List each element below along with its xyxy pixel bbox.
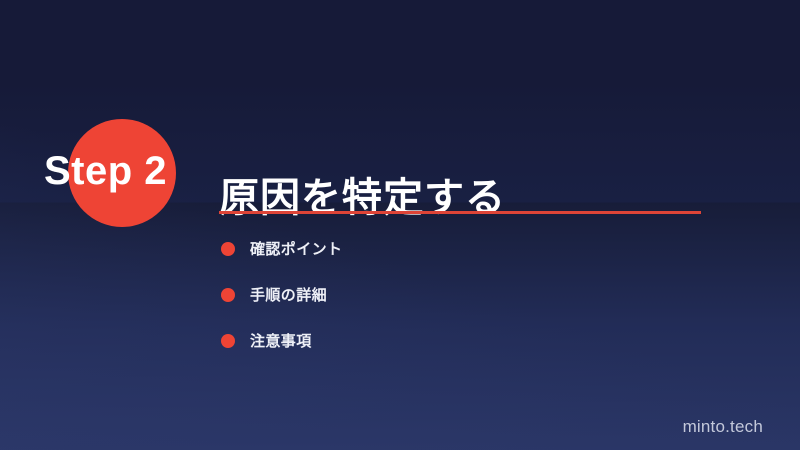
list-item: 手順の詳細 — [221, 283, 342, 307]
list-item: 注意事項 — [221, 329, 342, 353]
dot-icon — [221, 288, 235, 302]
dot-icon — [221, 242, 235, 256]
bullet-list: 確認ポイント 手順の詳細 注意事項 — [221, 237, 342, 353]
dot-icon — [221, 334, 235, 348]
list-item-label: 注意事項 — [250, 334, 312, 349]
page-title: 原因を特定する — [219, 175, 506, 222]
list-item-label: 確認ポイント — [250, 242, 342, 257]
title-divider — [219, 211, 701, 214]
slide-canvas: Step 2 原因を特定する 確認ポイント 手順の詳細 注意事項 minto.t… — [0, 0, 800, 450]
watermark-brand: minto.tech — [683, 418, 763, 435]
step-label: Step 2 — [44, 151, 167, 191]
list-item: 確認ポイント — [221, 237, 342, 261]
list-item-label: 手順の詳細 — [250, 288, 327, 303]
